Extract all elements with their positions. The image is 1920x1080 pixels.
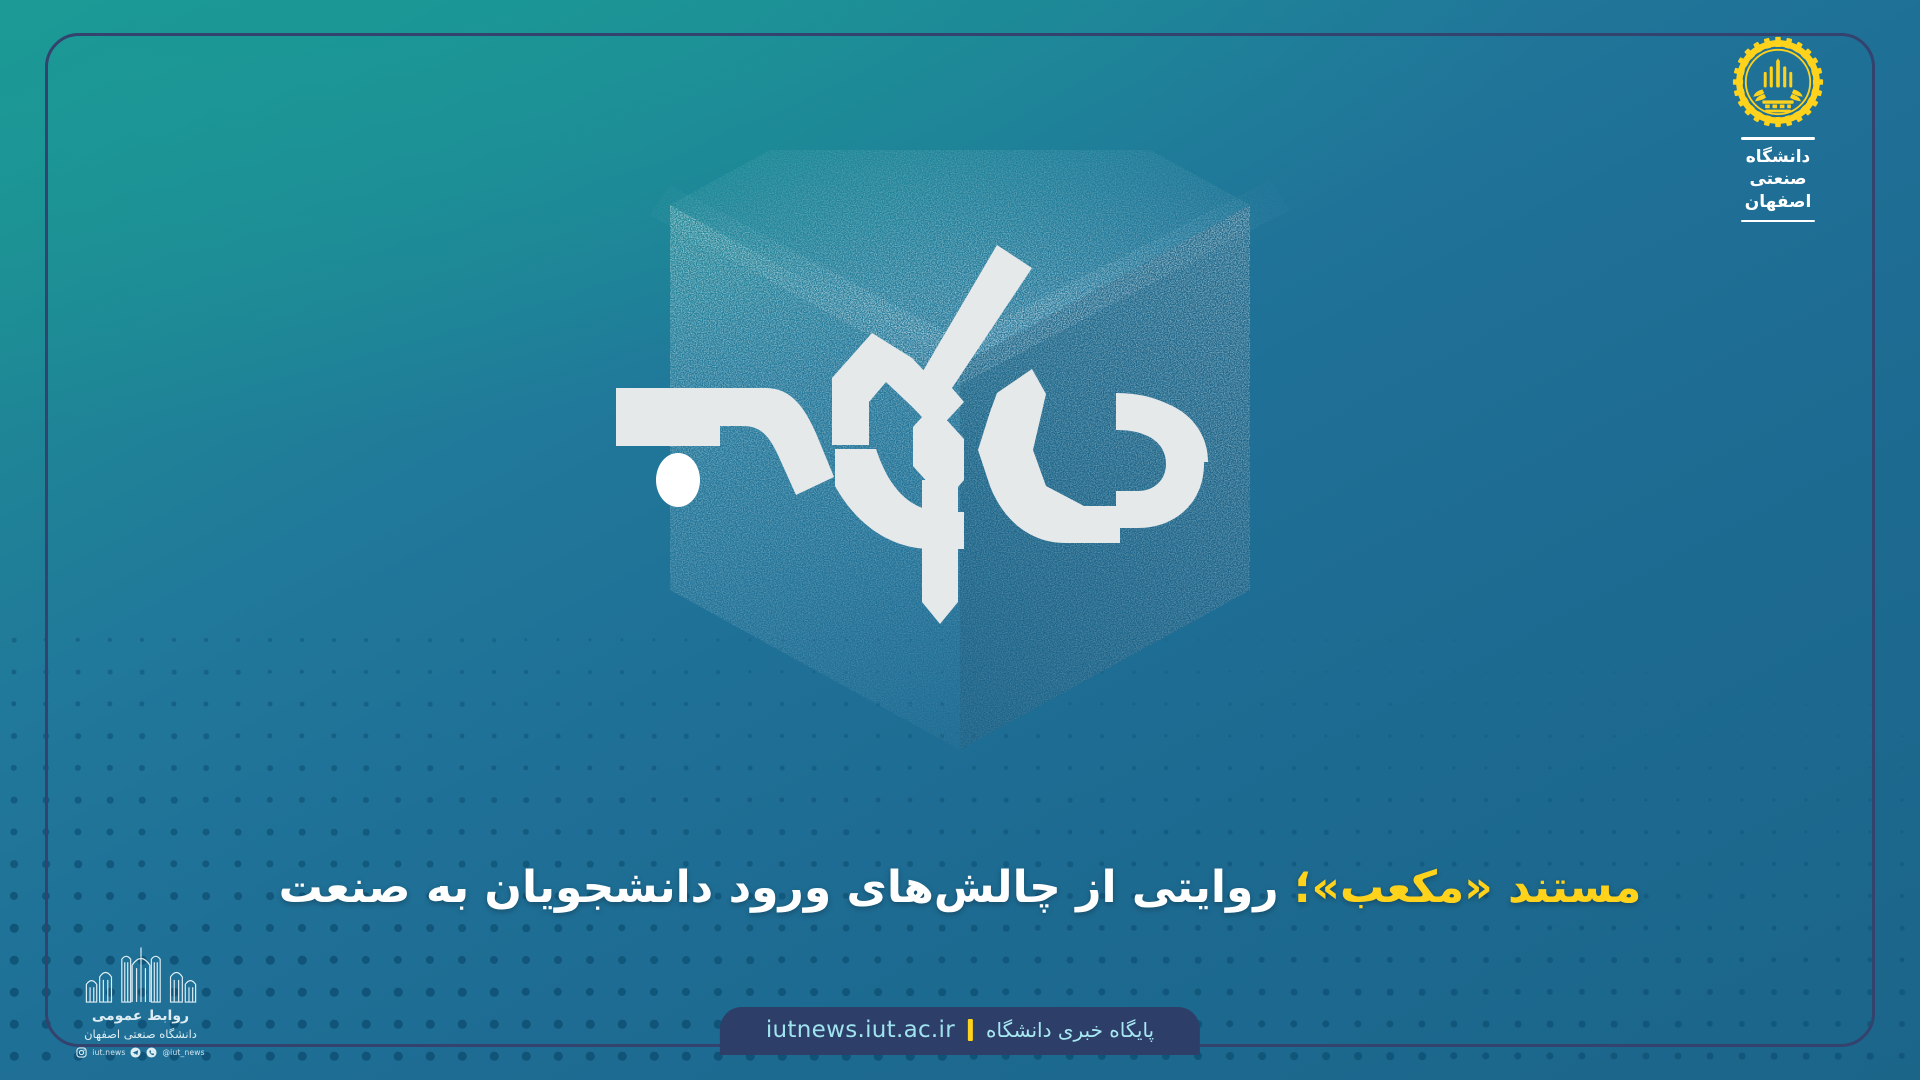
pr-logo-line-1: روابط عمومی [92,1008,189,1024]
pr-logo-line-2: دانشگاه صنعتی اصفهان [84,1027,197,1041]
telegram-icon[interactable] [130,1047,141,1058]
news-url-bar[interactable]: پایگاه خبری دانشگاه iutnews.iut.ac.ir [720,1007,1200,1055]
university-logo: دانشگاه صنعتی اصفهان [1698,36,1858,222]
pr-logo-socials: iut.news @iut_news [76,1047,204,1058]
poster-canvas: مستند «مکعب»؛ روایتی از چالش‌های ورود دا… [0,0,1920,1080]
logo-divider-bottom [1741,220,1815,223]
whatsapp-handle: @iut_news [162,1048,204,1057]
university-logo-line-2: صنعتی [1749,168,1806,191]
iut-gear-seal-icon [1732,36,1824,128]
mokaab-cube-artwork [560,150,1360,850]
separator-bar [968,1019,973,1041]
page-title: مستند «مکعب»؛ روایتی از چالش‌های ورود دا… [0,860,1920,915]
page-title-highlight: مستند «مکعب»؛ [1294,862,1641,913]
news-site-label: پایگاه خبری دانشگاه [986,1018,1154,1042]
public-relations-logo: روابط عمومی دانشگاه صنعتی اصفهان iut.new… [58,943,223,1058]
university-logo-line-1: دانشگاه [1746,146,1811,169]
whatsapp-icon[interactable] [146,1047,157,1058]
instagram-icon[interactable] [76,1047,87,1058]
isfahan-skyline-icon [67,943,215,1005]
university-logo-line-3: اصفهان [1745,191,1812,214]
instagram-handle: iut.news [92,1048,125,1057]
page-title-rest: روایتی از چالش‌های ورود دانشجویان به صنع… [279,862,1279,913]
logo-divider-top [1741,137,1815,140]
news-site-url[interactable]: iutnews.iut.ac.ir [766,1017,955,1043]
